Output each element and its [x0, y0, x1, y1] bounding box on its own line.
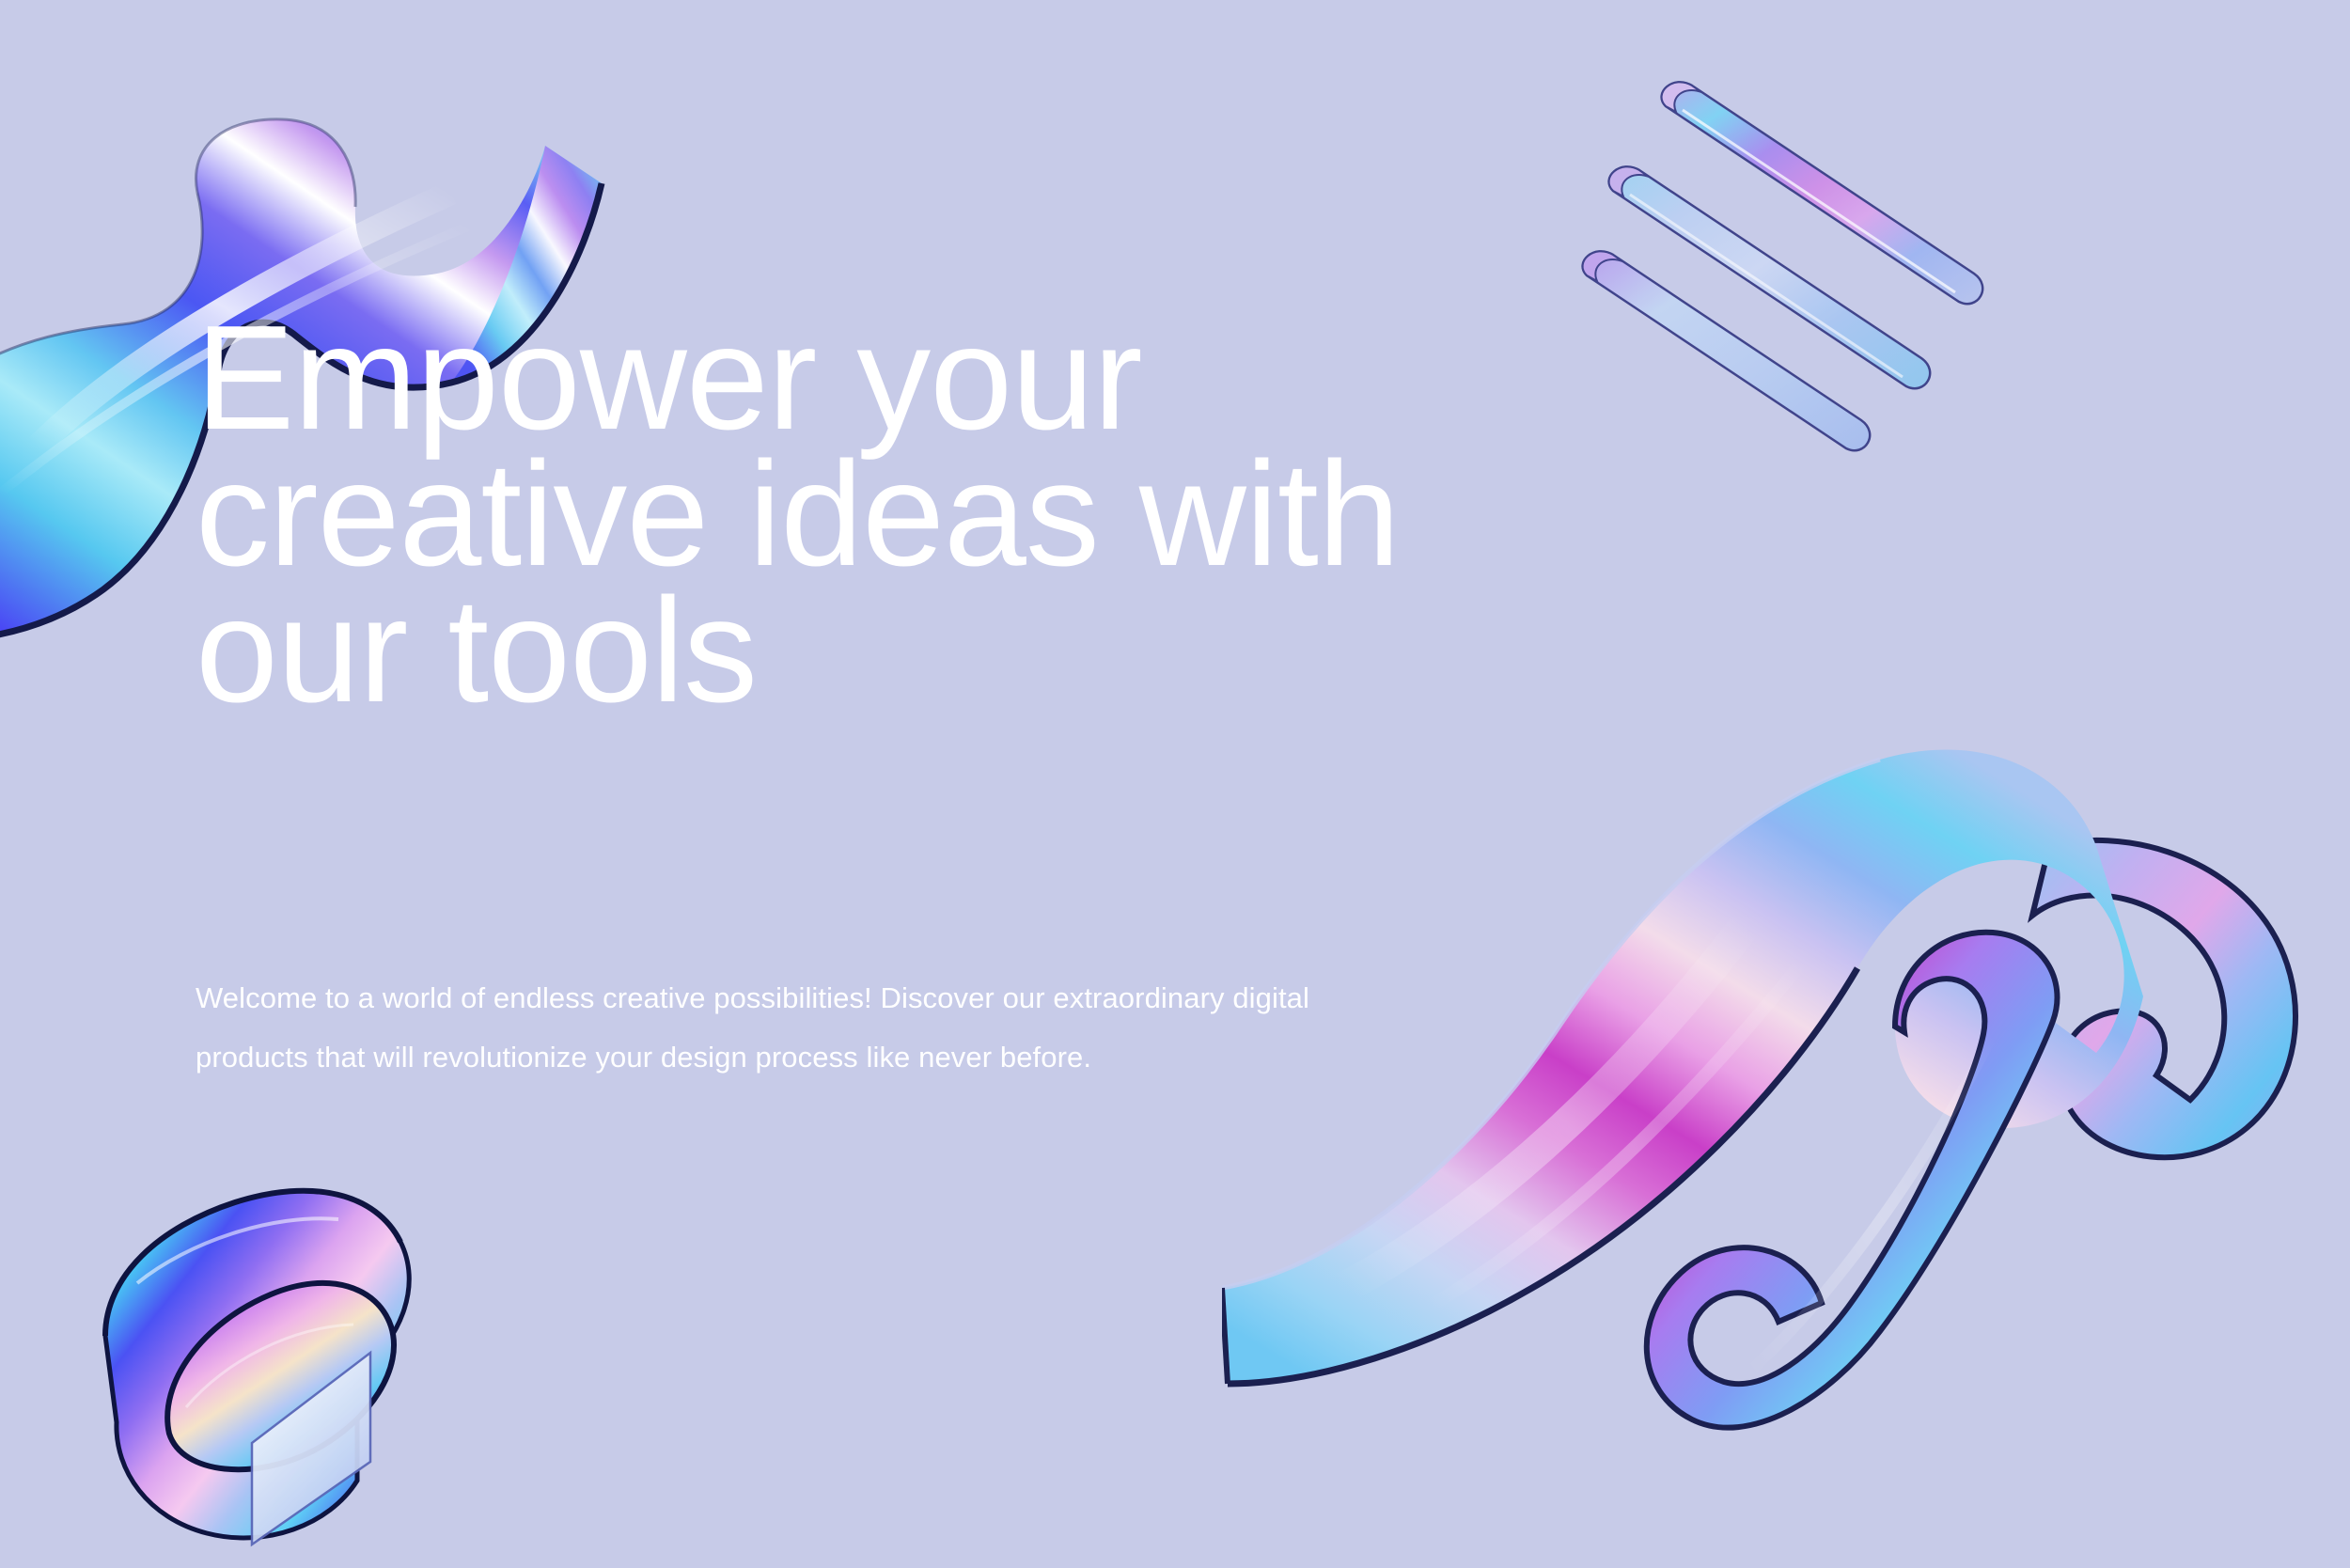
hero-banner: Empower your creative ideas with our too… — [0, 0, 2350, 1568]
hero-content: Empower your creative ideas with our too… — [196, 310, 2076, 719]
coiled-ribbon-bottom-left-icon — [47, 1161, 470, 1565]
folded-ribbon-bottom-right-icon — [1222, 686, 2350, 1568]
page-title: Empower your creative ideas with our too… — [196, 310, 2076, 719]
hero-subcopy: Welcome to a world of endless creative p… — [196, 968, 1361, 1087]
